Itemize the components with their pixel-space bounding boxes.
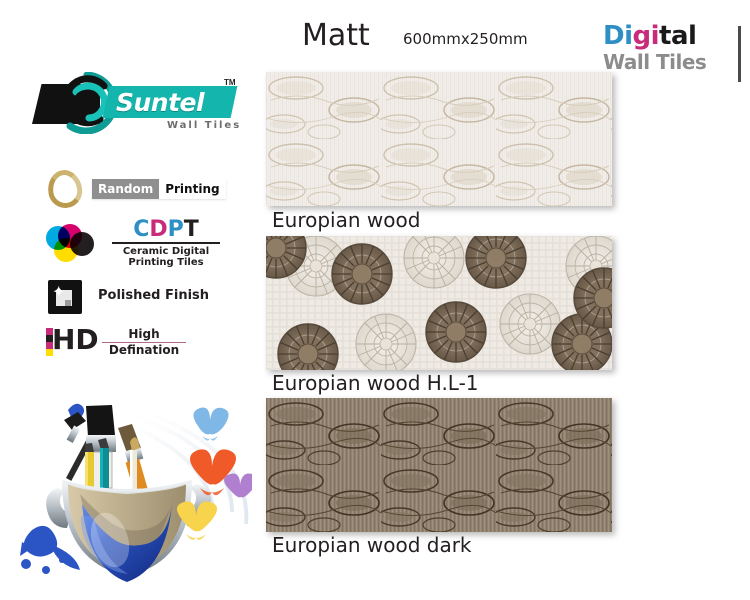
suntel-logo: Suntel TM Wall Tiles [28, 70, 243, 140]
sparkle-icon: ✦ [52, 285, 65, 301]
tile-caption-europian-wood-dark: Europian wood dark [272, 533, 472, 557]
tile-caption-europian-wood-hl-1: Europian wood H.L-1 [272, 371, 479, 395]
cdpt-text-block: CDPT Ceramic Digital Printing Tiles [112, 218, 220, 268]
cdpt-letter-t: T [184, 217, 199, 242]
butterfly-blue [193, 408, 228, 441]
hd-text-block: High Defination [102, 328, 186, 357]
cdpt-sub-line-2: Printing Tiles [112, 257, 220, 268]
tile-caption-europian-wood: Europian wood [272, 208, 420, 232]
tile-catalog-page: Matt 600mmx250mm Digital Wall Tiles Sunt… [0, 0, 750, 600]
trademark-mark: TM [224, 78, 236, 87]
badge-tal: tal [659, 21, 696, 51]
polished-finish-label: Polished Finish [98, 288, 209, 303]
random-label: Random [92, 179, 159, 199]
printing-label: Printing [159, 179, 225, 199]
random-printing-chip: Random Printing [92, 179, 226, 199]
feature-polished-finish: ✦ Polished Finish [40, 278, 230, 318]
cdpt-letter-d: D [149, 217, 167, 242]
feature-random-printing: Random Printing [40, 168, 220, 210]
paint-splash [20, 526, 80, 574]
cdpt-letter-p: P [168, 217, 184, 242]
badge-di: Di [603, 21, 633, 51]
cmyk-circles-icon [46, 224, 100, 264]
cdpt-letters: CDPT [112, 218, 220, 242]
tile-image-europian-wood[interactable] [266, 72, 612, 206]
badge-g: g [633, 21, 651, 51]
tile-size-label: 600mmx250mm [403, 30, 528, 48]
hd-line-2: Defination [102, 344, 186, 357]
cdpt-sub-line-1: Ceramic Digital [112, 246, 220, 257]
black-circle [70, 232, 94, 256]
feature-high-definition: HD High Defination [40, 322, 230, 368]
feature-cdpt: CDPT Ceramic Digital Printing Tiles [40, 218, 230, 274]
cdpt-letter-c: C [133, 217, 149, 242]
badge-line-1: Digital [603, 22, 743, 50]
tile-image-europian-wood-dark[interactable] [266, 398, 612, 532]
ring-icon [46, 168, 85, 210]
finish-type-title: Matt [302, 18, 370, 53]
badge-i: i [651, 21, 659, 51]
logo-brand-name: Suntel [116, 88, 236, 118]
badge-divider-bar [738, 26, 741, 82]
tile-image-europian-wood-hl-1[interactable] [266, 236, 612, 370]
logo-tagline: Wall Tiles [167, 120, 241, 131]
paint-cup-brushes-butterflies-artwork [2, 392, 252, 600]
digital-wall-tiles-badge: Digital Wall Tiles [603, 22, 743, 84]
hd-abbr: HD [52, 324, 99, 356]
hd-line-1: High [102, 328, 186, 341]
polished-small-square [65, 300, 71, 306]
badge-line-2: Wall Tiles [603, 50, 743, 74]
cdpt-divider [112, 242, 220, 244]
